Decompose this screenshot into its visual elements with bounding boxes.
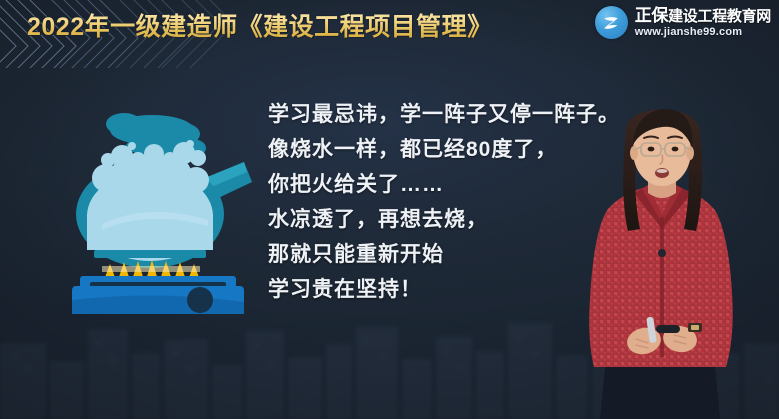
brand-name-suffix: 建设工程教育网 [668,8,771,25]
quote-line: 像烧水一样，都已经80度了， [268,139,608,160]
brand-name: 正保建设工程教育网 [635,7,771,24]
brand-text-block: 正保建设工程教育网 www.jianshe99.com [635,7,771,38]
brand-url: www.jianshe99.com [635,27,771,38]
brand-name-prefix: 正保 [635,6,668,25]
z-swoosh-logo-icon [595,6,628,39]
quote-line: 那就只能重新开始 [268,244,608,265]
quote-line: 学习最忌讳，学一阵子又停一阵子。 [268,104,608,125]
quote-block: 学习最忌讳，学一阵子又停一阵子。 像烧水一样，都已经80度了， 你把火给关了……… [268,104,608,300]
quote-line: 水凉透了，再想去烧， [268,209,608,230]
quote-line: 学习贵在坚持！ [268,279,608,300]
quote-line: 你把火给关了…… [268,174,608,195]
brand-watermark[interactable]: 正保建设工程教育网 www.jianshe99.com [595,6,771,39]
slide-title: 2022年一级建造师《建设工程项目管理》 [27,7,493,43]
lecture-slide: 2022年一级建造师《建设工程项目管理》 正保建设工程教育网 www.jians… [0,0,779,419]
